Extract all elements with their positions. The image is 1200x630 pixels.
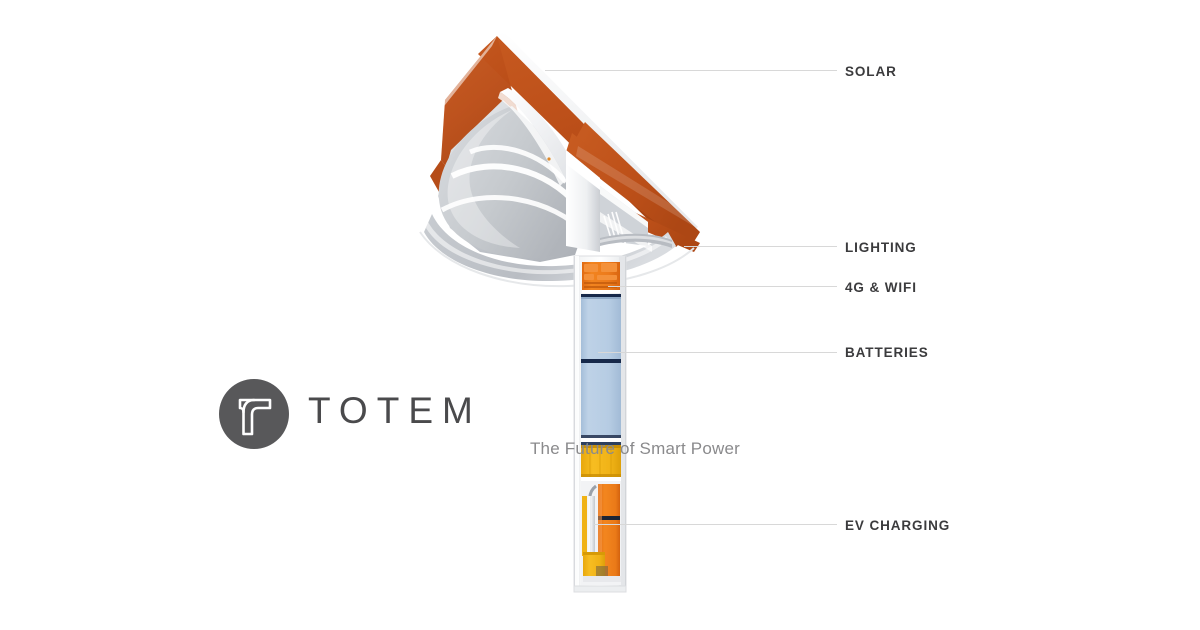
- callout-label-connectivity: 4G & WIFI: [845, 281, 917, 295]
- totem-t-mark-icon: [218, 378, 290, 450]
- brand-wordmark: TOTEM: [308, 392, 482, 429]
- leader-line-lighting: [684, 246, 837, 247]
- callout-label-solar: SOLAR: [845, 65, 897, 79]
- leader-line-connectivity: [608, 286, 837, 287]
- diagram-canvas: SOLAR LIGHTING 4G & WIFI BATTERIES EV CH…: [0, 0, 1200, 630]
- leader-line-batteries: [598, 352, 837, 353]
- brand-lockup: TOTEM The Future of Smart Power: [218, 378, 538, 468]
- totem-product-illustration: [0, 0, 1200, 630]
- callout-label-ev-charging: EV CHARGING: [845, 519, 950, 533]
- pole-assembly: [574, 256, 626, 592]
- brand-tagline: The Future of Smart Power: [310, 440, 740, 457]
- leader-line-solar: [545, 70, 837, 71]
- callout-label-lighting: LIGHTING: [845, 241, 917, 255]
- callout-label-batteries: BATTERIES: [845, 346, 929, 360]
- leader-line-ev-charging: [594, 524, 837, 525]
